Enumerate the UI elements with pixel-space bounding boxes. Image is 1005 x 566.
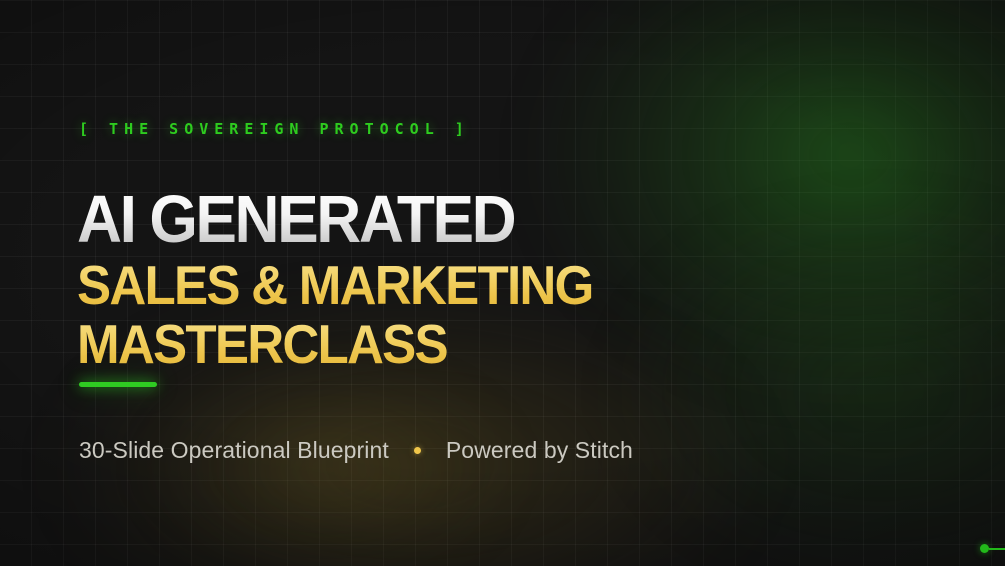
bullet-separator-icon xyxy=(414,447,421,454)
title-slide: [ THE SOVEREIGN PROTOCOL ] AI GENERATED … xyxy=(0,0,1005,566)
eyebrow-label: [ THE SOVEREIGN PROTOCOL ] xyxy=(79,120,470,138)
edge-marker-line xyxy=(989,548,1005,550)
subtitle-right-text: Powered by Stitch xyxy=(446,437,633,464)
subtitle-row: 30-Slide Operational Blueprint Powered b… xyxy=(79,437,633,464)
slide-content: [ THE SOVEREIGN PROTOCOL ] AI GENERATED … xyxy=(79,0,839,566)
subtitle-left-text: 30-Slide Operational Blueprint xyxy=(79,437,389,464)
edge-marker-dot-icon xyxy=(980,544,989,553)
edge-marker xyxy=(980,544,1005,553)
accent-divider-bar xyxy=(79,382,157,387)
page-title-accent-line-2: MASTERCLASS xyxy=(77,317,447,372)
page-title-accent-line-1: SALES & MARKETING xyxy=(77,258,593,313)
page-title-primary: AI GENERATED xyxy=(77,186,514,253)
